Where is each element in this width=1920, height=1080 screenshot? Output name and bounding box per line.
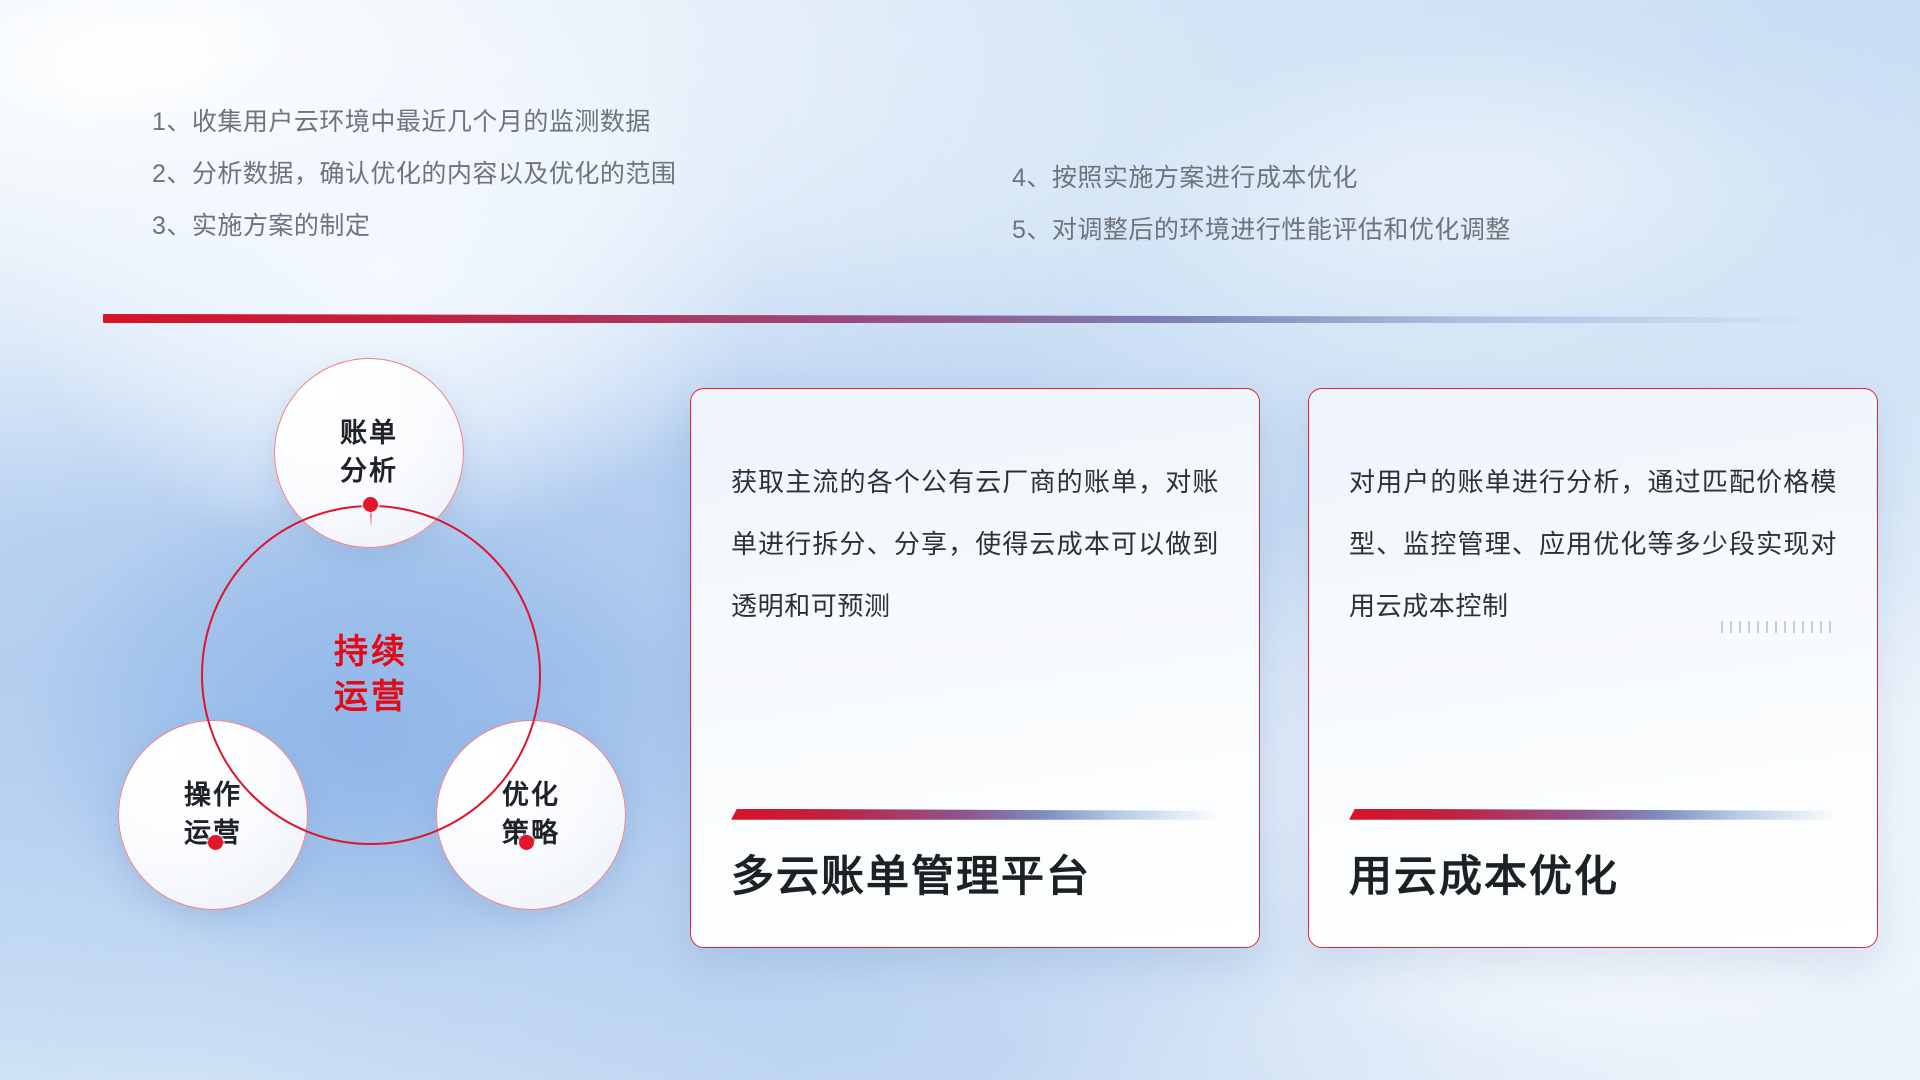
diagram-dot-bottom-left	[208, 835, 223, 850]
diagram-center-label: 持续 运营	[201, 505, 541, 845]
diagram-dot-bottom-right	[519, 835, 534, 850]
diagram-dot-top	[363, 497, 378, 512]
step-item-3: 3、实施方案的制定	[152, 200, 676, 252]
feature-card-title: 用云成本优化	[1349, 854, 1837, 901]
steps-list-left: 1、收集用户云环境中最近几个月的监测数据 2、分析数据，确认优化的内容以及优化的…	[152, 96, 676, 252]
step-item-5: 5、对调整后的环境进行性能评估和优化调整	[1012, 204, 1511, 256]
step-item-4: 4、按照实施方案进行成本优化	[1012, 152, 1511, 204]
feature-card-body: 获取主流的各个公有云厂商的账单，对账单进行拆分、分享，使得云成本可以做到透明和可…	[731, 451, 1219, 637]
feature-card-cost-optimization[interactable]: 对用户的账单进行分析，通过匹配价格模型、监控管理、应用优化等多少段实现对用云成本…	[1308, 388, 1878, 948]
steps-list-right: 4、按照实施方案进行成本优化 5、对调整后的环境进行性能评估和优化调整	[1012, 152, 1511, 256]
center-line-2: 运营	[334, 677, 408, 718]
feature-card-dotted-accent	[1721, 621, 1831, 633]
step-item-1: 1、收集用户云环境中最近几个月的监测数据	[152, 96, 676, 148]
center-line-1: 持续	[334, 632, 408, 673]
feature-card-divider	[731, 809, 1219, 820]
feature-card-divider	[1349, 809, 1837, 820]
continuous-operations-diagram: 账单 分析 操作 运营 优化 策略 持续 运营	[96, 352, 636, 932]
step-item-2: 2、分析数据，确认优化的内容以及优化的范围	[152, 148, 676, 200]
feature-card-body: 对用户的账单进行分析，通过匹配价格模型、监控管理、应用优化等多少段实现对用云成本…	[1349, 451, 1837, 637]
feature-card-multicloud-billing[interactable]: 获取主流的各个公有云厂商的账单，对账单进行拆分、分享，使得云成本可以做到透明和可…	[690, 388, 1260, 948]
feature-card-title: 多云账单管理平台	[731, 854, 1219, 901]
